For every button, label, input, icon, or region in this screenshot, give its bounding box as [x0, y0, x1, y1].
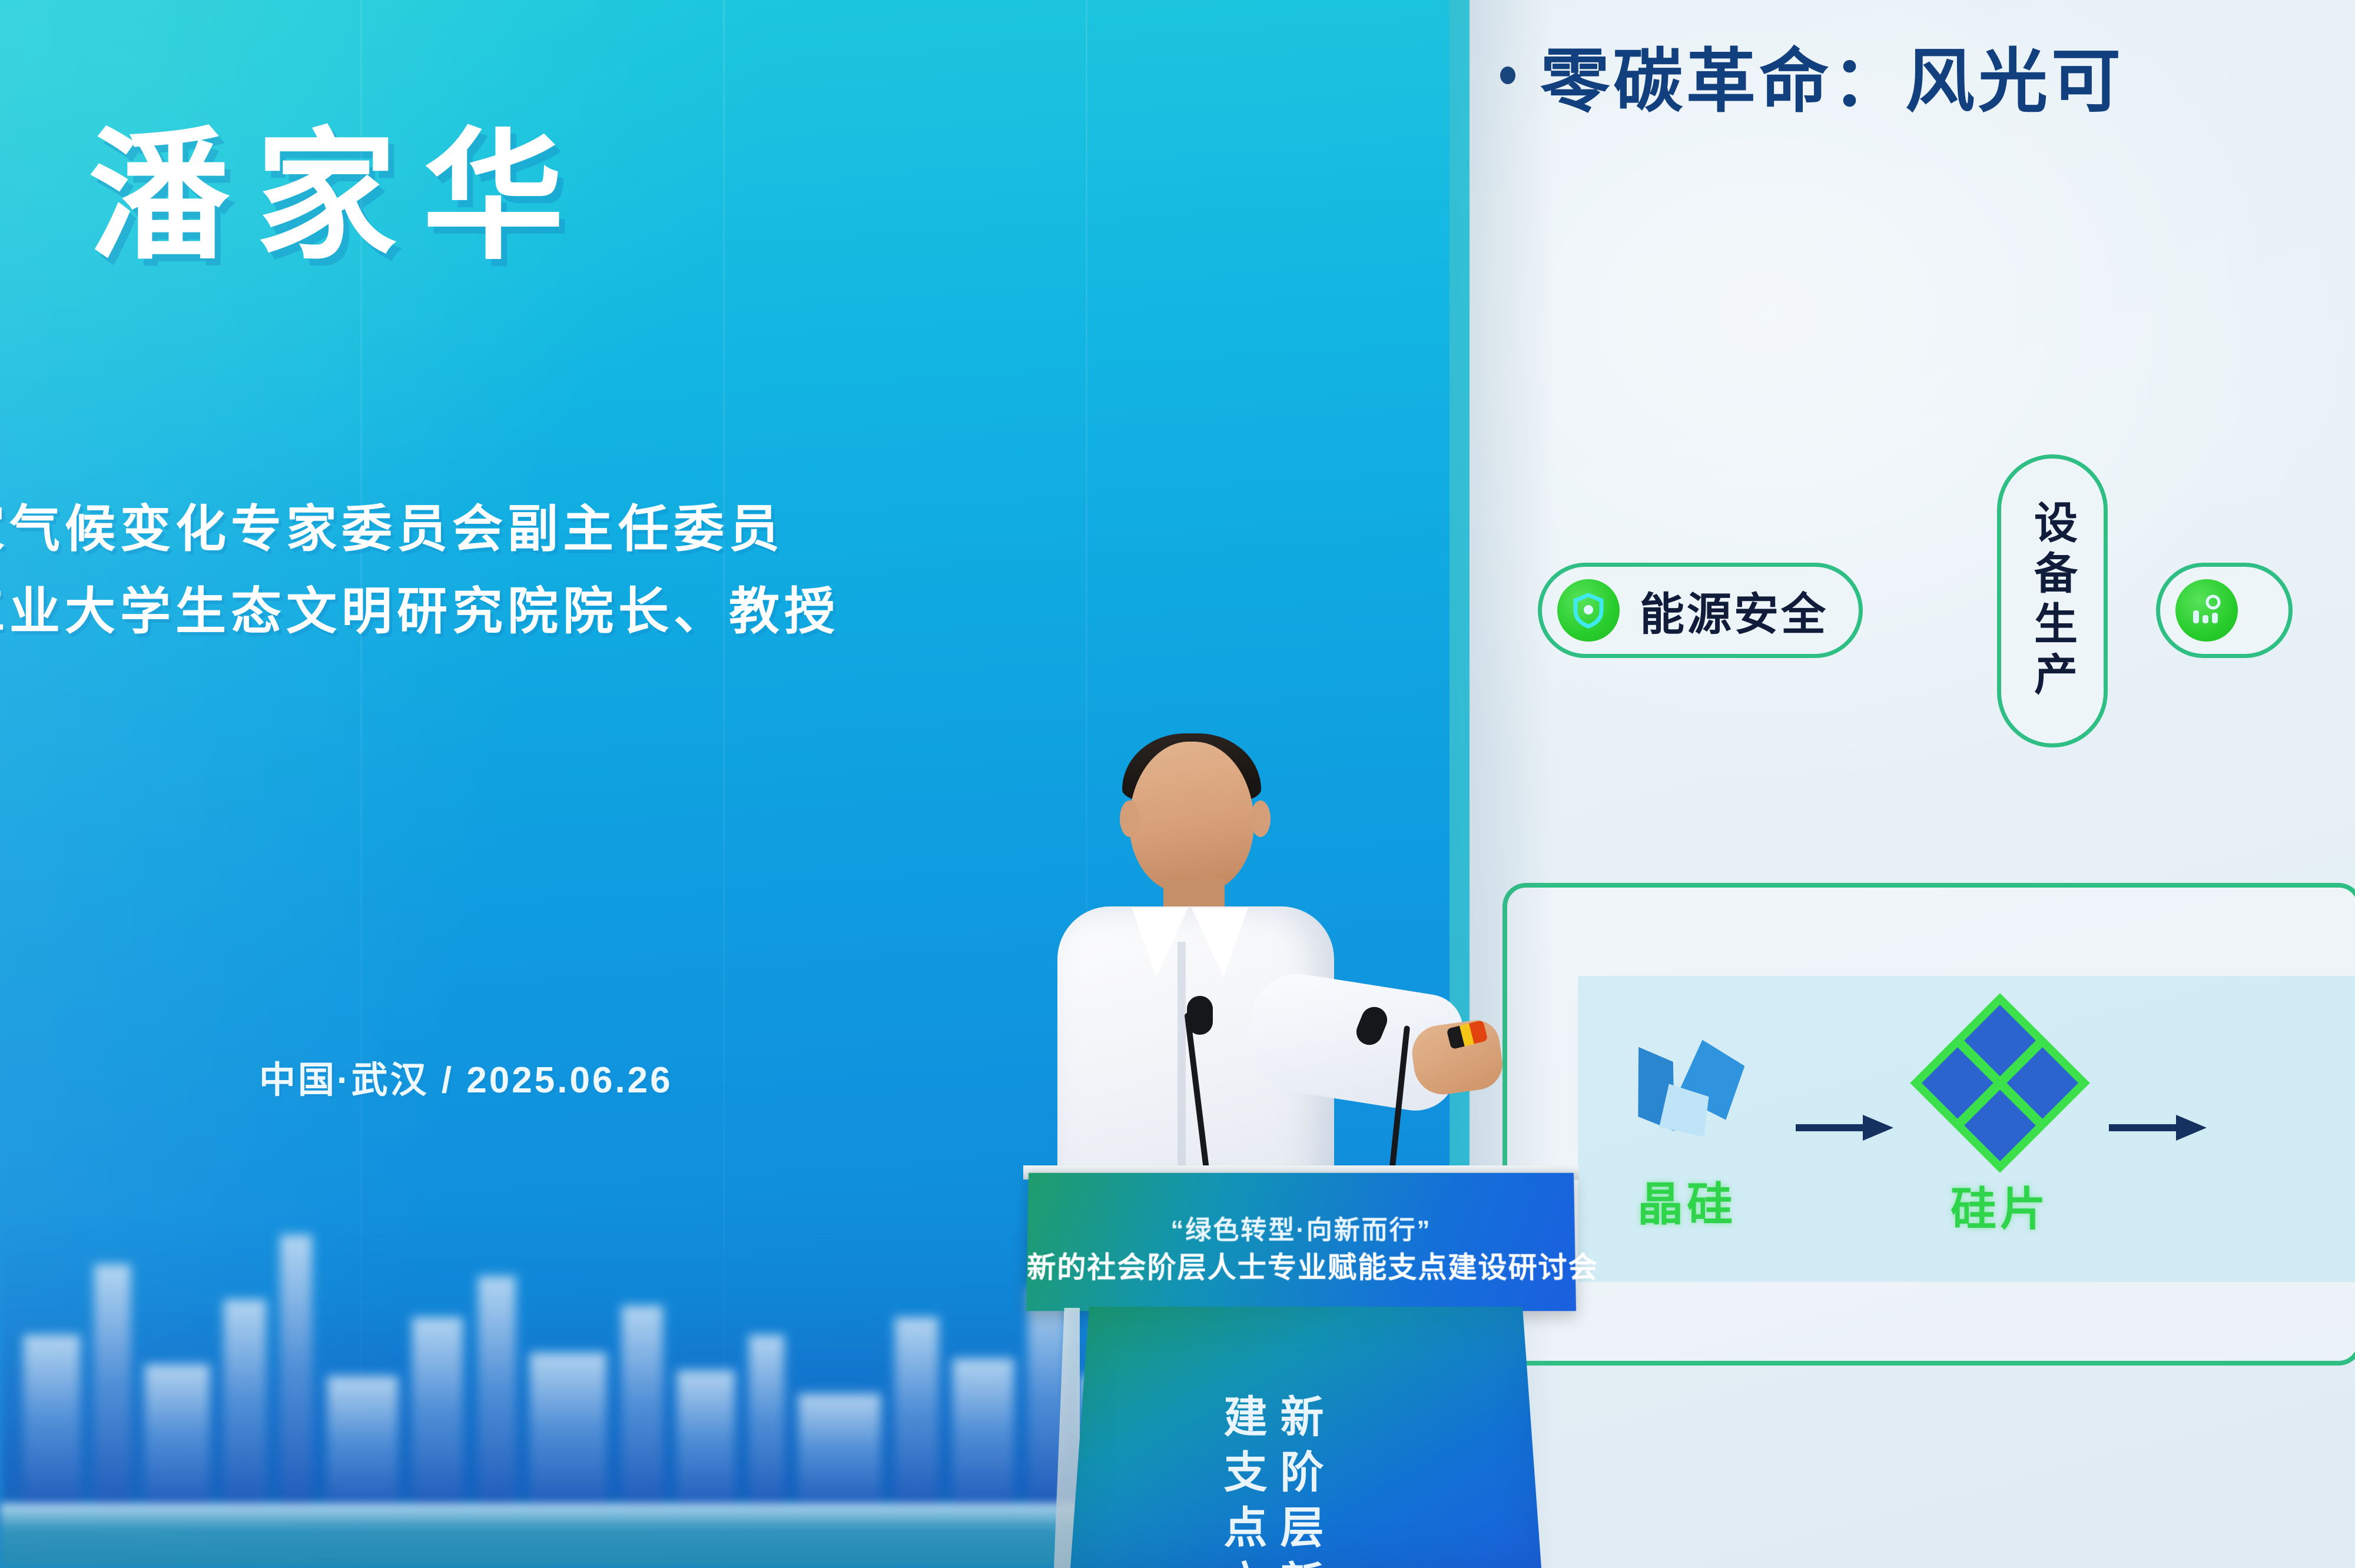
flow-step-silicon-wafer: 硅片: [1915, 1019, 2085, 1238]
arrow-right-icon: [2107, 1111, 2207, 1147]
speaker-ear: [1251, 800, 1271, 837]
pill-third-partial: [2156, 563, 2293, 658]
microphone-head: [1187, 996, 1213, 1035]
pill-label: 能源安全: [1640, 578, 1828, 643]
flow-step-crystalline-silicon: 晶硅: [1601, 1024, 1772, 1234]
pill-equipment-production: 设备生产: [1997, 454, 2108, 748]
backdrop-title-line-1: 家气候变化专家委员会副主任委员: [0, 487, 784, 561]
podium-vertical-slogan: 新阶层新 建支点立: [1220, 1394, 1320, 1568]
speaker-ear: [1120, 800, 1140, 837]
flow-step-label: 硅片: [1951, 1172, 2049, 1238]
bar-chart-icon: [2175, 579, 2238, 642]
flow-step-label: 晶硅: [1637, 1168, 1736, 1234]
slide-bullet-text: 零碳革命：风光可: [1540, 25, 2124, 125]
pill-energy-security: 能源安全: [1538, 563, 1863, 658]
silicon-value-chain-flow: 晶硅 硅片: [1578, 976, 2355, 1282]
podium-banner: “绿色转型·向新而行” 新的社会阶层人士专业赋能支点建设研讨会: [1026, 1173, 1576, 1311]
backdrop-speaker-name: 潘家华: [88, 82, 590, 287]
podium-banner-line-1: “绿色转型·向新而行”: [1027, 1209, 1575, 1247]
speaker-head: [1129, 742, 1254, 893]
podium-vertical-column-left: 建支点立: [1220, 1394, 1263, 1568]
shield-icon: [1557, 579, 1620, 642]
silicon-wafer-icon: [1910, 993, 2089, 1172]
slide-pill-row: 能源安全 设备生产: [1514, 447, 2355, 753]
slide-diagram-frame: 晶硅 硅片: [1502, 883, 2355, 1366]
backdrop-title-line-2: 工业大学生态文明研究院院长、教授: [0, 570, 840, 643]
podium-vertical-column-right: 新阶层新: [1276, 1394, 1320, 1568]
podium-banner-line-2: 新的社会阶层人士专业赋能支点建设研讨会: [1027, 1244, 1576, 1286]
projection-screen: 零碳革命：风光可 能源安全 设备生产: [1450, 0, 2355, 1568]
slide-bullet-line: 零碳革命：风光可: [1500, 25, 2355, 125]
pill-label: 设备生产: [2021, 500, 2084, 702]
backdrop-location-date: 中国·武汉 / 2025.06.26: [259, 1050, 673, 1103]
arrow-right-icon: [1793, 1111, 1893, 1147]
silicon-crystal-icon: [1625, 1024, 1749, 1142]
photo-stage: 潘家华 家气候变化专家委员会副主任委员 工业大学生态文明研究院院长、教授 中国·…: [0, 0, 2355, 1568]
